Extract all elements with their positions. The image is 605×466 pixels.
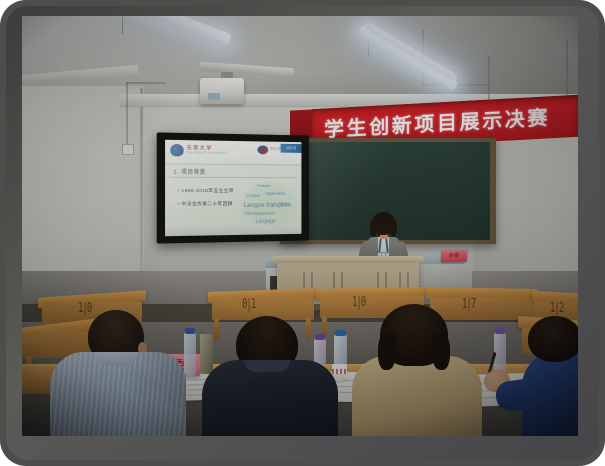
- desk-number-1: 1|0: [78, 302, 91, 317]
- presenter-hair-right: [390, 220, 397, 237]
- desk-leg-2a: [214, 318, 219, 340]
- water-bottle-1: [184, 332, 196, 376]
- wordcloud-term-6: Développement: [245, 211, 275, 216]
- projection-screen: 东南大学 SOUTHEAST UNIVERSITY 中法工程师学院 项目汇报 1…: [165, 140, 301, 236]
- slide-university-subtitle: SOUTHEAST UNIVERSITY: [187, 151, 227, 155]
- ceiling-conduit-far-right: [488, 56, 490, 106]
- photo-frame: 学生创新项目展示决赛 东南大学 SOUTHEAST UNIVERSITY 中法工…: [0, 0, 605, 466]
- slide-bullet-2: 中法合作第二十年回顾: [177, 201, 232, 207]
- classroom-photo: 学生创新项目展示决赛 东南大学 SOUTHEAST UNIVERSITY 中法工…: [22, 16, 578, 436]
- university-logo-icon: [170, 144, 183, 156]
- judge-3-hair-left: [378, 334, 396, 370]
- desk-number-2: 0|1: [242, 298, 255, 313]
- water-bottle-2-cap: [315, 334, 325, 340]
- slide-corner-tab: 项目汇报: [281, 144, 302, 153]
- wordcloud-term-7: Langage: [256, 219, 276, 225]
- desk-number-4: 1|7: [462, 298, 475, 313]
- wordcloud-term-3: Ingénierie: [265, 192, 285, 197]
- presenter-hair-left: [370, 220, 377, 237]
- wordcloud-term-2: Corpus: [246, 193, 260, 198]
- wordcloud-term-5: Projet: [279, 201, 289, 206]
- judge-4-head: [528, 316, 578, 362]
- judge-1-shading: [50, 352, 186, 436]
- slide-divider: [169, 177, 297, 179]
- desk-number-5: 1|2: [550, 302, 563, 317]
- desk-leg-2b: [306, 318, 311, 340]
- wall-conduit-horizontal: [126, 82, 166, 84]
- ceiling-projector: [200, 78, 244, 104]
- judge-4-jacket: [522, 352, 578, 436]
- wordcloud-term-1: Pratique: [258, 184, 271, 188]
- water-bottle-4-cap: [495, 328, 505, 334]
- desk-number-3: 1|0: [352, 296, 365, 311]
- ceiling-conduit-edge: [566, 40, 568, 102]
- podium-name-card: 评委: [441, 250, 467, 263]
- slide-bullet-1: 1996-2016年五立立项: [177, 188, 233, 194]
- slide-word-cloud: Pratique Corpus Ingénierie Langue frança…: [242, 181, 298, 231]
- judge-3-blazer: [352, 356, 482, 436]
- wall-outlet: [122, 144, 134, 155]
- water-bottle-1-cap: [185, 328, 195, 334]
- slide-heading: 1. 项目背景: [173, 168, 205, 176]
- projector-lens: [208, 93, 220, 100]
- projection-screen-frame: 东南大学 SOUTHEAST UNIVERSITY 中法工程师学院 项目汇报 1…: [157, 132, 309, 243]
- podium-name-card-text: 评委: [441, 250, 467, 263]
- lectern-top: [272, 256, 424, 263]
- light-rod-left: [122, 16, 123, 34]
- slide-footer-bar: [165, 225, 301, 236]
- wall-conduit-vertical: [126, 82, 128, 148]
- water-bottle-3-cap: [335, 330, 346, 336]
- partner-logo-icon: [258, 145, 269, 154]
- judge-3-hair-right: [432, 334, 450, 370]
- thermos-flask: [200, 334, 213, 374]
- judge-2-collar: [244, 360, 290, 372]
